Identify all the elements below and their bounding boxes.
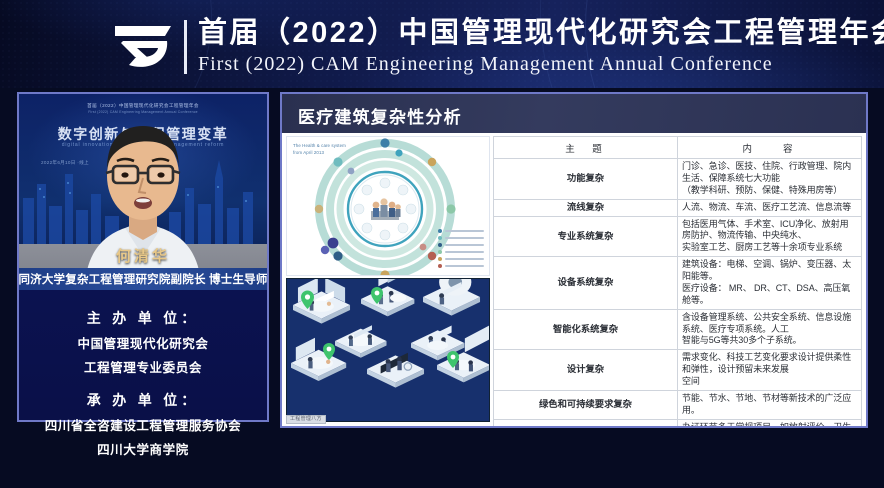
row-content: 节能、节水、节地、节材等新技术的广泛应用。 (678, 390, 862, 419)
legend-label-placeholder (445, 230, 484, 232)
row-content: 门诊、急诊、医技、住院、行政管理、院内生活、保障系统七大功能 （教学科研、预防、… (678, 159, 862, 200)
host-heading: 承 办 单 位： (19, 390, 267, 410)
slide-header-bar: 医疗建筑复杂性分析 (282, 94, 866, 133)
row-content-line: 空间 (682, 376, 857, 388)
row-topic: 专业系统复杂 (494, 216, 678, 257)
row-topic: 设计复杂 (494, 350, 678, 391)
table-header-row: 主 题 内 容 (494, 137, 862, 159)
complexity-analysis-table: 主 题 内 容 功能复杂 门诊、急诊、医技、住院、行政管理、院内生活、保障系统七… (493, 136, 862, 428)
table-row: 智能化系统复杂 含设备管理系统、公共安全系统、信息设施系统、医疗专项系统。人工 … (494, 309, 862, 350)
video-bg-line1: 首届（2022）中国管理现代化研究会工程管理年会 (19, 103, 267, 109)
row-topic: 办证环节复杂 (494, 419, 678, 428)
row-topic: 功能复杂 (494, 159, 678, 200)
legend-swatch (438, 236, 442, 240)
speaker-title: 同济大学复杂工程管理研究院副院长 博士生导师 (19, 271, 267, 287)
organizer-block: 主 办 单 位： 中国管理现代化研究会 工程管理专业委员会 承 办 单 位： 四… (19, 294, 267, 458)
legend-swatch (438, 264, 442, 268)
speaker-panel: 首届（2022）中国管理现代化研究会工程管理年会 First (2022) CA… (17, 92, 269, 422)
organizer-heading: 主 办 单 位： (19, 308, 267, 328)
row-content-line: 医疗设备： MR、 DR、CT、DSA、高压氧舱等。 (682, 283, 857, 307)
legend-item (438, 257, 484, 261)
header-topic: 主 题 (494, 137, 678, 159)
row-content: 人流、物流、车流、医疗工艺流、信息流等 (678, 199, 862, 216)
row-content: 办证环节多于常规项目。如放射评价、卫生学预评价、职业病危害预评 价、手术部洁净专… (678, 419, 862, 428)
legend-label-placeholder (445, 244, 484, 246)
row-topic: 流线复杂 (494, 199, 678, 216)
row-content-line: 实验室工艺、厨房工艺等十余项专业系统 (682, 242, 857, 254)
speaker-video-tile[interactable]: 首届（2022）中国管理现代化研究会工程管理年会 First (2022) CA… (19, 94, 267, 290)
legend-swatch (438, 243, 442, 247)
health-system-infographic: The Health & care system from April 2013 (286, 136, 490, 276)
slide-graphics-column: The Health & care system from April 2013 (286, 136, 490, 422)
banner-title-chinese: 首届（2022）中国管理现代化研究会工程管理年会 (198, 19, 884, 48)
infographic-legend (438, 229, 484, 271)
table-row: 功能复杂 门诊、急诊、医技、住院、行政管理、院内生活、保障系统七大功能 （教学科… (494, 159, 862, 200)
legend-label-placeholder (445, 251, 484, 253)
slide-body: The Health & care system from April 2013 (282, 133, 866, 426)
legend-item (438, 243, 484, 247)
row-content-line: 节能、节水、节地、节材等新技术的广泛应用。 (682, 393, 857, 417)
row-content-line: 办证环节多于常规项目。如放射评价、卫生学预评价、职业病危害预评 (682, 422, 857, 428)
table-row: 专业系统复杂 包括医用气体、手术室、ICU净化、放射用房防护、物流传输、中央纯水… (494, 216, 862, 257)
row-content: 包括医用气体、手术室、ICU净化、放射用房防护、物流传输、中央纯水、 实验室工艺… (678, 216, 862, 257)
legend-item (438, 250, 484, 254)
row-content-line: 智能与5G等共30多个子系统。 (682, 335, 857, 347)
row-content: 含设备管理系统、公共安全系统、信息设施系统、医疗专项系统。人工 智能与5G等共3… (678, 309, 862, 350)
table-row: 绿色和可持续要求复杂 节能、节水、节地、节材等新技术的广泛应用。 (494, 390, 862, 419)
row-content-line: 建筑设备：电梯、空调、锅炉、变压器、太阳能等。 (682, 259, 857, 283)
slide-title: 医疗建筑复杂性分析 (298, 103, 462, 128)
row-topic: 绿色和可持续要求复杂 (494, 390, 678, 419)
legend-item (438, 264, 484, 268)
header-content: 内 容 (678, 137, 862, 159)
legend-item (438, 229, 484, 233)
row-content-line: 含设备管理系统、公共安全系统、信息设施系统、医疗专项系统。人工 (682, 312, 857, 336)
cam-logo-icon (113, 23, 175, 71)
row-content-line: 人流、物流、车流、医疗工艺流、信息流等 (682, 202, 857, 214)
table-row: 流线复杂 人流、物流、车流、医疗工艺流、信息流等 (494, 199, 862, 216)
organizer-line: 工程管理专业委员会 (19, 357, 267, 376)
organizer-line: 中国管理现代化研究会 (19, 333, 267, 352)
table-row: 设备系统复杂 建筑设备：电梯、空调、锅炉、变压器、太阳能等。 医疗设备： MR、… (494, 257, 862, 310)
legend-swatch (438, 250, 442, 254)
banner-title-english: First (2022) CAM Engineering Management … (198, 54, 773, 74)
row-topic: 智能化系统复杂 (494, 309, 678, 350)
screen-root: 首届（2022）中国管理现代化研究会工程管理年会 First (2022) CA… (0, 0, 884, 488)
legend-swatch (438, 257, 442, 261)
row-content-line: （教学科研、预防、保健、特殊用房等） (682, 185, 857, 197)
isometric-rooms-icon (287, 279, 490, 422)
legend-swatch (438, 229, 442, 233)
slide-watermark: 工程管理八方 (286, 415, 326, 424)
presentation-slide-panel[interactable]: 医疗建筑复杂性分析 (280, 92, 868, 428)
row-content-line: 包括医用气体、手术室、ICU净化、放射用房防护、物流传输、中央纯水、 (682, 219, 857, 243)
legend-label-placeholder (445, 237, 484, 239)
row-content-line: 门诊、急诊、医技、住院、行政管理、院内生活、保障系统七大功能 (682, 161, 857, 185)
legend-label-placeholder (445, 265, 484, 267)
host-line: 四川省全咨建设工程管理服务协会 (19, 415, 267, 434)
row-content: 需求变化、科技工艺变化要求设计提供柔性和弹性，设计预留未来发展 空间 (678, 350, 862, 391)
video-bg-line2: First (2022) CAM Engineering Management … (19, 110, 267, 114)
row-content: 建筑设备：电梯、空调、锅炉、变压器、太阳能等。 医疗设备： MR、 DR、CT、… (678, 257, 862, 310)
table-row: 办证环节复杂 办证环节多于常规项目。如放射评价、卫生学预评价、职业病危害预评 价… (494, 419, 862, 428)
table-row: 设计复杂 需求变化、科技工艺变化要求设计提供柔性和弹性，设计预留未来发展 空间 (494, 350, 862, 391)
row-topic: 设备系统复杂 (494, 257, 678, 310)
speaker-name: 何清华 (116, 245, 170, 266)
speaker-title-bar: 同济大学复杂工程管理研究院副院长 博士生导师 (19, 268, 267, 290)
legend-label-placeholder (445, 258, 484, 260)
isometric-hospital-illustration (286, 278, 490, 422)
legend-item (438, 236, 484, 240)
infographic-caption: The Health & care system from April 2013 (293, 143, 346, 157)
row-content-line: 需求变化、科技工艺变化要求设计提供柔性和弹性，设计预留未来发展 (682, 352, 857, 376)
conference-banner: 首届（2022）中国管理现代化研究会工程管理年会 First (2022) CA… (0, 0, 884, 88)
speaker-name-bar: 何清华 (19, 242, 267, 268)
logo-divider (184, 20, 187, 74)
host-line: 四川大学商学院 (19, 439, 267, 458)
